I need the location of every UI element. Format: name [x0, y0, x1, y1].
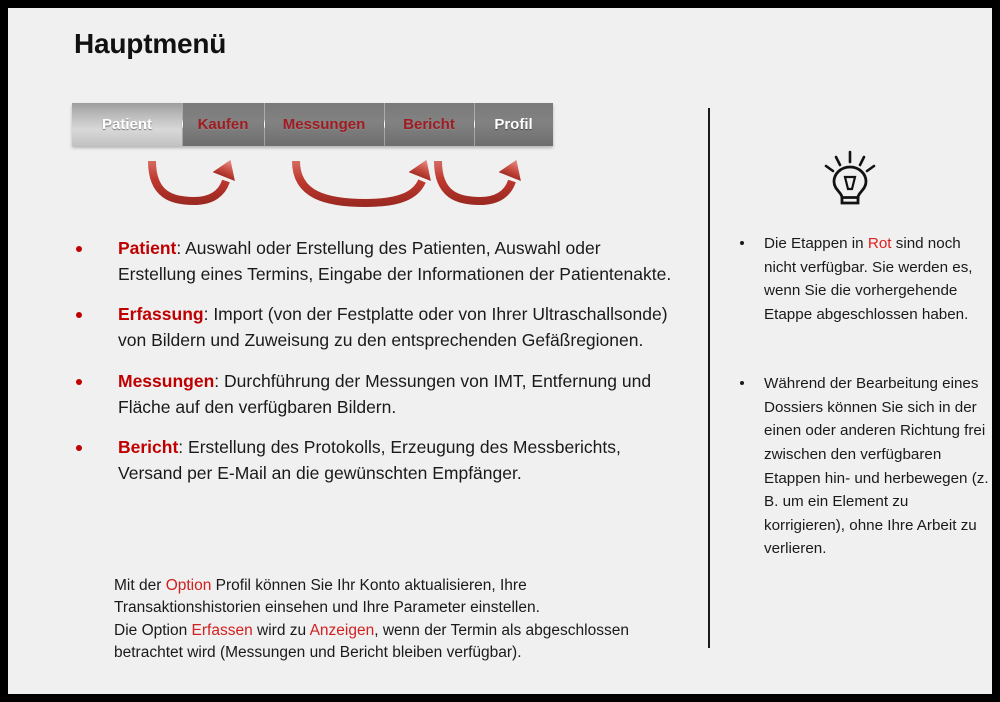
- menu-description-list: Patient: Auswahl oder Erstellung des Pat…: [66, 236, 681, 502]
- tip-item-red-steps: Die Etappen in Rot sind noch nicht verfü…: [730, 232, 992, 326]
- bullet-separator: :: [176, 238, 185, 258]
- step-separator-dot-4: [474, 103, 475, 146]
- curved-arrow-1: [152, 155, 242, 201]
- list-item: Bericht: Erstellung des Protokolls, Erze…: [66, 435, 681, 486]
- footnote-p2-erfassen: Erfassen: [192, 622, 253, 639]
- step-separator-dot-3: [384, 103, 385, 146]
- tip-1-a: Die Etappen in: [764, 235, 868, 252]
- step-separator-dot-1: [182, 103, 183, 146]
- step-messungen-label: Messungen: [279, 116, 370, 133]
- list-item: Patient: Auswahl oder Erstellung des Pat…: [66, 236, 681, 287]
- bullet-text-bericht: Erstellung des Protokolls, Erzeugung des…: [118, 437, 621, 483]
- step-profil[interactable]: Profil: [474, 103, 553, 146]
- footnote-block: Mit der Option Profil können Sie Ihr Kon…: [114, 575, 674, 665]
- step-profil-label: Profil: [490, 116, 536, 133]
- tip-2-a: Während der Bearbeitung eines Dossiers k…: [764, 375, 989, 557]
- bullet-keyword-erfassung: Erfassung: [118, 304, 204, 324]
- footnote-paragraph-1: Mit der Option Profil können Sie Ihr Kon…: [114, 575, 674, 620]
- bullet-keyword-bericht: Bericht: [118, 437, 178, 457]
- curved-arrow-3: [438, 155, 528, 201]
- list-item: Messungen: Durchführung der Messungen vo…: [66, 369, 681, 420]
- main-menu-step-navigation[interactable]: Patient Kaufen Messungen Bericht Profil: [72, 103, 553, 146]
- bullet-keyword-patient: Patient: [118, 238, 176, 258]
- curved-arrow-2: [296, 155, 438, 203]
- tip-1-rot: Rot: [868, 235, 892, 252]
- step-kaufen[interactable]: Kaufen: [182, 103, 264, 146]
- lightbulb-icon: [820, 150, 880, 208]
- footnote-p1-option: Option: [166, 577, 212, 594]
- bullet-keyword-messungen: Messungen: [118, 371, 214, 391]
- tips-panel: Die Etappen in Rot sind noch nicht verfü…: [730, 232, 992, 561]
- step-separator-dot-2: [264, 103, 265, 146]
- step-messungen[interactable]: Messungen: [264, 103, 384, 146]
- footnote-p2-b: wird zu: [253, 622, 310, 639]
- bullet-separator: :: [204, 304, 214, 324]
- step-kaufen-label: Kaufen: [194, 116, 253, 133]
- step-bericht[interactable]: Bericht: [384, 103, 474, 146]
- footnote-p2-anzeigen: Anzeigen: [310, 622, 375, 639]
- step-patient[interactable]: Patient: [72, 103, 182, 146]
- slide-canvas: Hauptmenü Patient Kaufen Messungen Beric…: [8, 8, 992, 694]
- step-flow-arrows: [138, 151, 538, 213]
- bullet-separator: :: [214, 371, 224, 391]
- bullet-separator: :: [178, 437, 188, 457]
- tips-spacer: [730, 326, 992, 372]
- tip-item-navigation: Während der Bearbeitung eines Dossiers k…: [730, 372, 992, 561]
- bullet-text-patient: Auswahl oder Erstellung des Patienten, A…: [118, 238, 671, 284]
- column-divider: [708, 108, 710, 648]
- step-bericht-label: Bericht: [399, 116, 459, 133]
- list-item: Erfassung: Import (von der Festplatte od…: [66, 302, 681, 353]
- page-title: Hauptmenü: [74, 28, 226, 60]
- footnote-paragraph-2: Die Option Erfassen wird zu Anzeigen, we…: [114, 620, 674, 665]
- footnote-p1-a: Mit der: [114, 577, 166, 594]
- step-patient-label: Patient: [98, 116, 156, 133]
- footnote-p2-a: Die Option: [114, 622, 192, 639]
